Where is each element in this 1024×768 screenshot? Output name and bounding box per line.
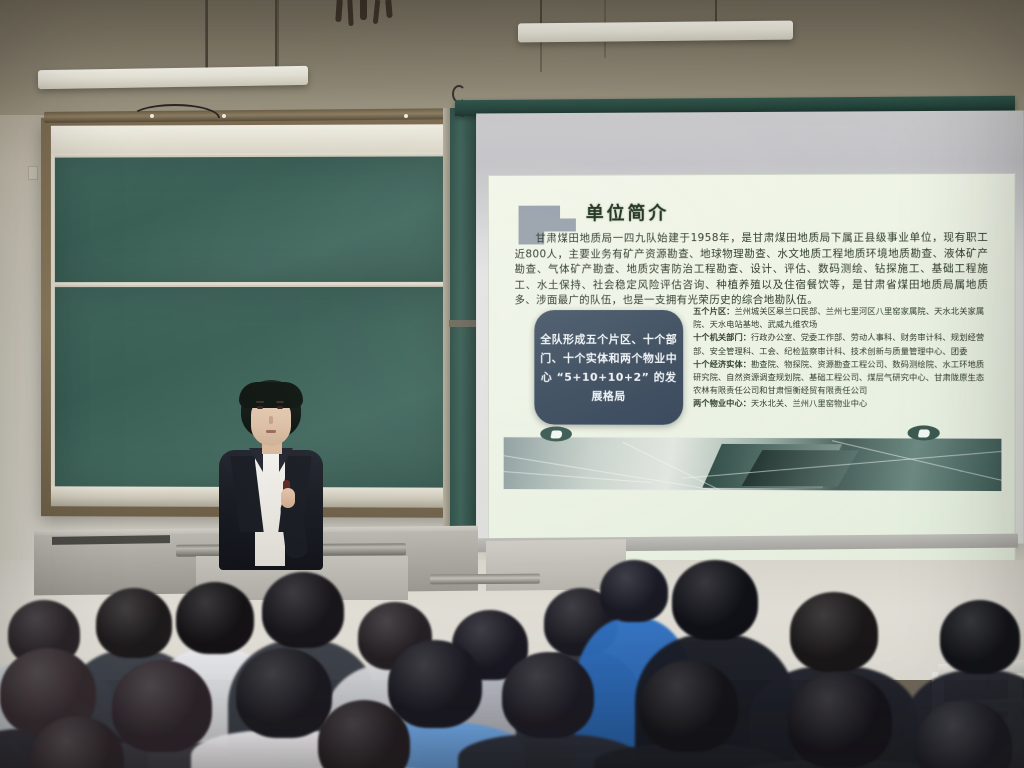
slide-title: 单位简介 — [586, 199, 669, 225]
presenter — [205, 380, 335, 570]
slide-right-column: 五个片区：兰州城关区皋兰口民部、兰州七里河区八里窑家属院、天水北关家属院、天水电… — [693, 305, 992, 411]
slide-right-column-entry: 十个机关部门：行政办公室、党委工作部、劳动人事科、财务审计科、规划经营部、安全管… — [693, 331, 992, 358]
slide-photo-strip — [503, 436, 1003, 492]
presenter-eye — [257, 406, 263, 409]
presenter-collar — [249, 448, 263, 472]
rail-screw — [222, 114, 226, 118]
presenter-mouth — [266, 430, 276, 433]
wall-outlet — [28, 166, 38, 180]
classroom-scene: 单位简介 甘肃煤田地质局一四九队始建于1958年，是甘肃煤田地质局下属正县级事业… — [0, 0, 1024, 768]
slide-right-column-entry: 五个片区：兰州城关区皋兰口民部、兰州七里河区八里窑家属院、天水北关家属院、天水电… — [693, 305, 992, 332]
chalkboard-top-strip — [51, 124, 455, 153]
audience-member-head — [388, 640, 482, 728]
thumbs-up-icon — [540, 426, 572, 441]
fluorescent-tube-light-icon — [518, 21, 793, 43]
audience-member-head — [176, 582, 254, 654]
audience-member-head — [788, 672, 892, 768]
presenter-nose — [269, 416, 273, 424]
presentation-slide: 单位简介 甘肃煤田地质局一四九队始建于1958年，是甘肃煤田地质局下属正县级事业… — [488, 173, 1016, 568]
audience-member-head — [502, 652, 594, 738]
side-desk-rail — [430, 574, 540, 585]
audience-member-head — [940, 600, 1020, 674]
slide-callout-text: 全队形成五个片区、十个部门、十个实体和两个物业中心 “5+10+10+2” 的发… — [534, 329, 683, 405]
audience-member-head — [790, 592, 878, 672]
presenter-hand — [281, 488, 295, 508]
light-wire — [540, 0, 542, 24]
audience-member-head — [236, 648, 332, 738]
projection-screen: 单位简介 甘肃煤田地质局一四九队始建于1958年，是甘肃煤田地质局下属正县级事业… — [476, 110, 1024, 543]
slide-right-column-entry: 十个经济实体：勘查院、物探院、资源勘查工程公司、数码测绘院、水工环地质研究院、自… — [693, 358, 992, 398]
light-wire — [275, 0, 277, 68]
podium-dark-inset — [52, 535, 170, 545]
slide-paragraph: 甘肃煤田地质局一四九队始建于1958年，是甘肃煤田地质局下属正县级事业单位，现有… — [515, 230, 989, 308]
presenter-eye — [277, 406, 283, 409]
slide-right-column-entry: 两个物业中心：天水北关、兰州八里窑物业中心 — [693, 397, 992, 411]
light-wire — [206, 0, 208, 70]
light-wire — [715, 0, 717, 22]
hanging-object — [360, 0, 367, 20]
chalkboard-panel-upper — [55, 154, 451, 282]
rail-screw — [404, 114, 408, 118]
audience-member-head — [96, 588, 172, 658]
audience-member-head — [262, 572, 344, 648]
thumbs-up-icon — [908, 425, 940, 440]
board-clip — [449, 320, 477, 327]
audience-member-head — [112, 660, 212, 752]
slide-callout-box: 全队形成五个片区、十个部门、十个实体和两个物业中心 “5+10+10+2” 的发… — [534, 310, 683, 425]
rail-screw — [150, 114, 154, 118]
presenter-hair-fringe — [239, 382, 303, 408]
audience-member-head — [672, 560, 758, 640]
audience-member-head — [600, 560, 668, 622]
audience-member-head — [640, 660, 738, 752]
presenter-eyebrow — [256, 401, 264, 403]
presenter-eyebrow — [276, 401, 284, 403]
wall-seam — [277, 0, 279, 72]
